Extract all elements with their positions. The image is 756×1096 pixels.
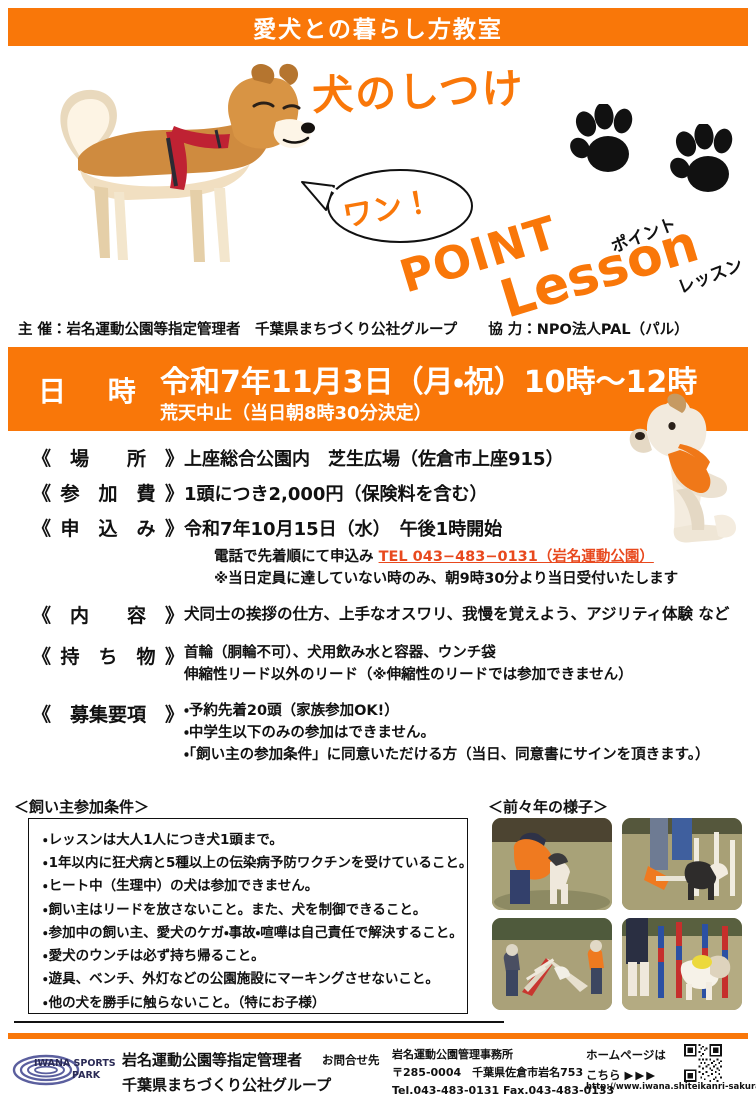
detail-row-requirements: 《 募集要項 》 ・予約先着20頭（家族参加OK!） ・中学生以下のみの参加はで… [0, 700, 756, 766]
footer-divider-rule [14, 1021, 504, 1023]
detail-value-fee: 1頭につき2,000円（保険料を含む） [184, 479, 487, 506]
date-label: 日 時 [38, 370, 152, 410]
hero-headline: 犬のしつけ [311, 54, 526, 121]
banner-title: 愛犬との暮らし方教室 [253, 10, 503, 44]
apply-note-phone-line: 電話で先着順にて申込み TEL 043−483−0131（岩名運動公園） [214, 547, 756, 569]
detail-value-content: 犬同士の挨拶の仕方、上手なオスワリ、我慢を覚えよう、アジリティ体験 など [184, 601, 729, 624]
detail-value-apply: 令和7年10月15日（水） 午後1時開始 [184, 514, 502, 541]
detail-label-fee-text: 参 加 費 [51, 479, 165, 506]
logo-line-2: PARK [72, 1070, 101, 1081]
footer-contact-line-1: 岩名運動公園管理事務所 [392, 1046, 614, 1064]
organizer-coop: 協 力：NPO法人PAL（パル） [488, 322, 688, 338]
photo-agility-jump [622, 818, 742, 910]
bring-line-2: 伸縮性リード以外のリード（※伸縮性のリードでは参加できません） [184, 664, 633, 686]
condition-item: 1年以内に狂犬病と5種以上の伝染病予防ワクチンを受けていること。 [43, 852, 459, 875]
detail-value-requirements: ・予約先着20頭（家族参加OK!） ・中学生以下のみの参加はできません。 ・「飼… [184, 700, 709, 766]
iwana-sports-park-logo: IWANA SPORTS PARK [12, 1052, 116, 1086]
detail-row-bring: 《 持 ち 物 》 首輪（胴輪不可）、犬用飲み水と容器、ウンチ袋 伸縮性リード以… [0, 642, 756, 686]
requirement-line-3: ・「飼い主の参加条件」に同意いただける方（当日、同意書にサインを頂きます。） [184, 744, 709, 766]
footer-contact-line-3: Tel.043-483-0131 Fax.043-483-0133 [392, 1082, 614, 1096]
footer-contact-label: お問合せ先 [322, 1052, 380, 1068]
condition-item: 遊具、ベンチ、外灯などの公園施設にマーキングさせないこと。 [43, 968, 459, 991]
paw-print-icon [568, 104, 644, 178]
photo-handler-with-dog [492, 818, 612, 910]
footer-orange-bar [8, 1033, 748, 1039]
paw-print-icon [668, 124, 744, 198]
organizer-host: 主 催：岩名運動公園等指定管理者 千葉県まちづくり公社グループ [18, 322, 457, 338]
requirement-line-2: ・中学生以下のみの参加はできません。 [184, 722, 709, 744]
photo-agility-a-frame-image [492, 918, 612, 1010]
detail-label-content-text: 内 容 [51, 601, 165, 628]
gallery-title: ＜前々年の様子＞ [488, 796, 608, 817]
detail-label-bring-text: 持 ち 物 [51, 642, 165, 669]
footer-contact-line-2: 〒285-0004 千葉県佐倉市岩名753 [392, 1064, 614, 1082]
detail-row-fee: 《 参 加 費 》 1頭につき2,000円（保険料を含む） [0, 479, 756, 506]
footer-hp-line-2-text: こちら [586, 1068, 621, 1082]
detail-label-apply: 《 申 込 み 》 [32, 514, 184, 541]
shiba-inu-photo [18, 58, 318, 288]
gallery-grid [492, 818, 742, 1014]
photo-weave-poles-image [622, 918, 742, 1010]
detail-label-place-text: 場 所 [51, 444, 165, 471]
qr-code-icon[interactable] [684, 1044, 722, 1082]
photo-agility-jump-image [622, 818, 742, 910]
details-section: 《 場 所 》 上座総合公園内 芝生広場（佐倉市上座915） 《 参 加 費 》… [0, 440, 756, 768]
apply-notes: 電話で先着順にて申込み TEL 043−483−0131（岩名運動公園） ※当日… [214, 547, 756, 591]
apply-note-secondary: ※当日定員に達していない時のみ、朝9時30分より当日受付いたします [214, 569, 756, 591]
footer-org-line-2: 千葉県まちづくり公社グループ [122, 1073, 331, 1096]
flyer-page: 愛犬との暮らし方教室 [0, 0, 756, 1096]
detail-label-content: 《 内 容 》 [32, 601, 184, 628]
bring-line-1: 首輪（胴輪不可）、犬用飲み水と容器、ウンチ袋 [184, 642, 633, 664]
footer-url[interactable]: http://www.iwana.shiteikanri-sakura.jp/i… [586, 1082, 756, 1092]
condition-item: 愛犬のウンチは必ず持ち帰ること。 [43, 945, 459, 968]
detail-label-bring: 《 持 ち 物 》 [32, 642, 184, 669]
apply-tel-number[interactable]: TEL 043−483−0131（岩名運動公園） [379, 549, 654, 565]
triangle-right-arrows-icon: ▶▶▶ [625, 1068, 658, 1082]
organizer-line: 主 催：岩名運動公園等指定管理者 千葉県まちづくり公社グループ 協 力：NPO法… [18, 318, 742, 339]
photo-agility-a-frame [492, 918, 612, 1010]
detail-value-place: 上座総合公園内 芝生広場（佐倉市上座915） [184, 444, 564, 471]
footer-org-line-1: 岩名運動公園等指定管理者 [122, 1048, 331, 1073]
footer-organization: 岩名運動公園等指定管理者 千葉県まちづくり公社グループ [122, 1048, 331, 1096]
detail-label-apply-text: 申 込 み [51, 514, 165, 541]
photo-weave-poles [622, 918, 742, 1010]
footer-hp-line-1: ホームページは [586, 1046, 666, 1066]
logo-line-1: IWANA SPORTS [34, 1058, 116, 1069]
conditions-box: レッスンは大人1人につき犬1頭まで。 1年以内に狂犬病と5種以上の伝染病予防ワク… [28, 818, 468, 1014]
detail-row-place: 《 場 所 》 上座総合公園内 芝生広場（佐倉市上座915） [0, 444, 756, 471]
footer-contact-body: 岩名運動公園管理事務所 〒285-0004 千葉県佐倉市岩名753 Tel.04… [392, 1046, 614, 1096]
footer-homepage-label: ホームページは こちら ▶▶▶ [586, 1046, 666, 1085]
detail-label-requirements-text: 募集要項 [51, 700, 165, 727]
condition-item: 飼い主はリードを放さないこと。また、犬を制御できること。 [43, 899, 459, 922]
detail-label-place: 《 場 所 》 [32, 444, 184, 471]
apply-note-prefix: 電話で先着順にて申込み [214, 549, 374, 565]
detail-value-bring: 首輪（胴輪不可）、犬用飲み水と容器、ウンチ袋 伸縮性リード以外のリード（※伸縮性… [184, 642, 633, 686]
condition-item: ヒート中（生理中）の犬は参加できません。 [43, 875, 459, 898]
condition-item: レッスンは大人1人につき犬1頭まで。 [43, 829, 459, 852]
conditions-title: ＜飼い主参加条件＞ [14, 796, 149, 817]
detail-row-content: 《 内 容 》 犬同士の挨拶の仕方、上手なオスワリ、我慢を覚えよう、アジリティ体… [0, 601, 756, 628]
detail-row-apply: 《 申 込 み 》 令和7年10月15日（水） 午後1時開始 [0, 514, 756, 541]
hero-section: 犬のしつけ ワン！ POINT ポイント Lesson レッスン [0, 46, 756, 312]
top-banner: 愛犬との暮らし方教室 [8, 8, 748, 46]
condition-item: 他の犬を勝手に触らないこと。（特にお子様） [43, 992, 459, 1015]
photo-handler-with-dog-image [492, 818, 612, 910]
detail-label-fee: 《 参 加 費 》 [32, 479, 184, 506]
condition-item: 参加中の飼い主、愛犬のケガ・事故・喧嘩は自己責任で解決すること。 [43, 922, 459, 945]
date-sub-text: 荒天中止（当日朝8時30分決定） [160, 399, 432, 425]
requirement-line-1: ・予約先着20頭（家族参加OK!） [184, 700, 709, 722]
conditions-list: レッスンは大人1人につき犬1頭まで。 1年以内に狂犬病と5種以上の伝染病予防ワク… [43, 829, 459, 1015]
detail-label-requirements: 《 募集要項 》 [32, 700, 184, 727]
